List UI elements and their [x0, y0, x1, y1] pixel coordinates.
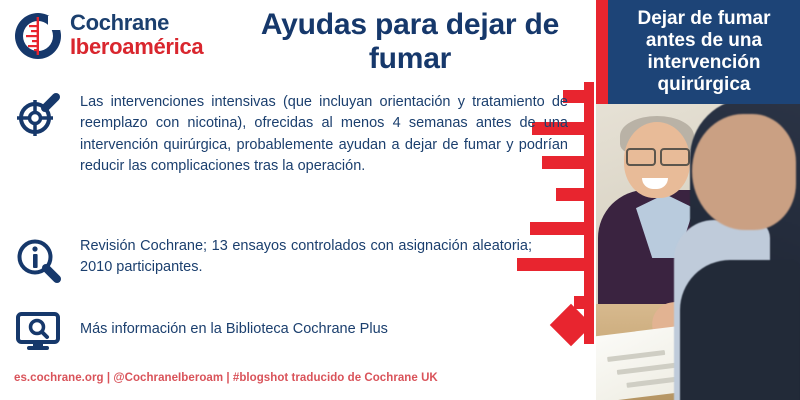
- infographic-canvas: Cochrane Iberoamérica Ayudas para dejar …: [0, 0, 800, 400]
- more-info-row: Más información en la Biblioteca Cochran…: [14, 306, 574, 354]
- evidence-source-row: Revisión Cochrane; 13 ensayos controlado…: [14, 236, 574, 284]
- photo-clinician-arm: [680, 260, 800, 400]
- forest-plot-bar: [530, 222, 590, 235]
- more-info-text: Más información en la Biblioteca Cochran…: [80, 319, 532, 340]
- forest-plot-bar: [556, 188, 590, 201]
- cochrane-logo[interactable]: Cochrane Iberoamérica: [10, 8, 225, 64]
- evidence-source-text: Revisión Cochrane; 13 ensayos controlado…: [80, 236, 532, 279]
- key-message-row: Las intervenciones intensivas (que inclu…: [14, 92, 574, 177]
- target-magnifier-icon: [14, 92, 62, 140]
- cochrane-logo-wordmark: Cochrane Iberoamérica: [70, 11, 203, 59]
- topic-banner: Dejar de fumar antes de una intervención…: [608, 0, 800, 104]
- cochrane-logo-icon: [12, 10, 64, 62]
- photo-man-glasses: [624, 148, 690, 162]
- logo-line-cochrane: Cochrane: [70, 10, 169, 35]
- info-magnifier-icon: [14, 236, 62, 284]
- page-title: Ayudas para dejar de fumar: [234, 8, 586, 76]
- photo-clinician-head: [692, 114, 796, 230]
- forest-plot-bar: [574, 296, 590, 309]
- monitor-search-icon: [14, 306, 62, 354]
- key-message-text: Las intervenciones intensivas (que inclu…: [80, 92, 568, 177]
- topic-banner-text: Dejar de fumar antes de una intervención…: [608, 8, 800, 96]
- logo-line-iberoamerica: Iberoamérica: [70, 34, 203, 59]
- patient-consultation-photo: [596, 104, 800, 400]
- footer-credits[interactable]: es.cochrane.org | @CochraneIberoam | #bl…: [14, 372, 438, 384]
